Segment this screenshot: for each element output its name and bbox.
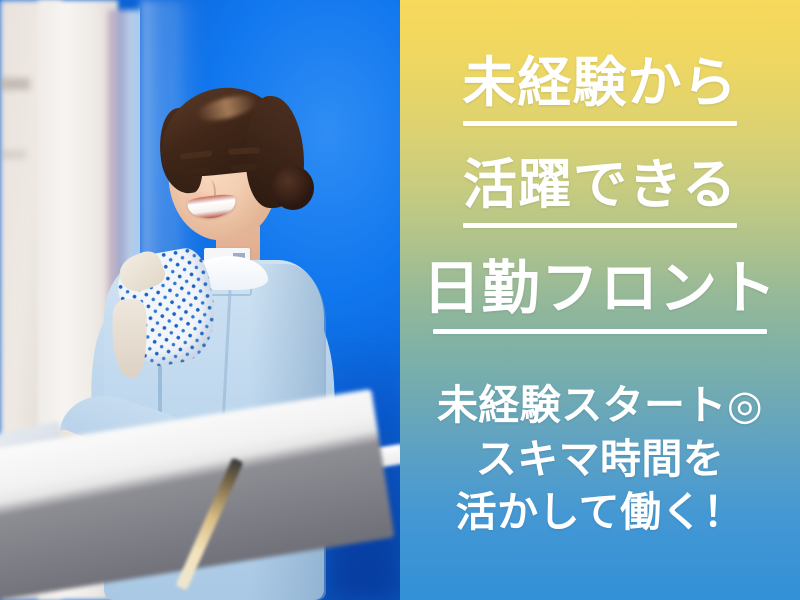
subcopy-block: 未経験スタート◎ スキマ時間を 活かして働く！ xyxy=(400,382,800,537)
headline-block: 未経験から 活躍できる 日勤フロント xyxy=(400,56,800,334)
text-panel: 未経験から 活躍できる 日勤フロント 未経験スタート◎ スキマ時間を 活かして働… xyxy=(400,0,800,600)
person-figure xyxy=(0,0,400,600)
subcopy-line-1: 未経験スタート◎ xyxy=(400,382,800,430)
headline-underline-1 xyxy=(463,121,737,126)
recruitment-banner: 未経験から 活躍できる 日勤フロント 未経験スタート◎ スキマ時間を 活かして働… xyxy=(0,0,800,600)
subcopy-line-2: スキマ時間を xyxy=(400,436,800,484)
headline-line-3: 日勤フロント xyxy=(400,260,800,318)
headline-underline-3 xyxy=(433,329,767,334)
headline-line-2: 活躍できる xyxy=(400,158,800,212)
subcopy-line-3: 活かして働く！ xyxy=(400,489,800,537)
staff-photo xyxy=(0,0,400,600)
hair-bun xyxy=(272,166,314,210)
headline-underline-2 xyxy=(463,223,737,228)
neck-scarf xyxy=(113,245,223,371)
headline-line-1: 未経験から xyxy=(400,56,800,110)
scarf-tail xyxy=(113,299,147,377)
